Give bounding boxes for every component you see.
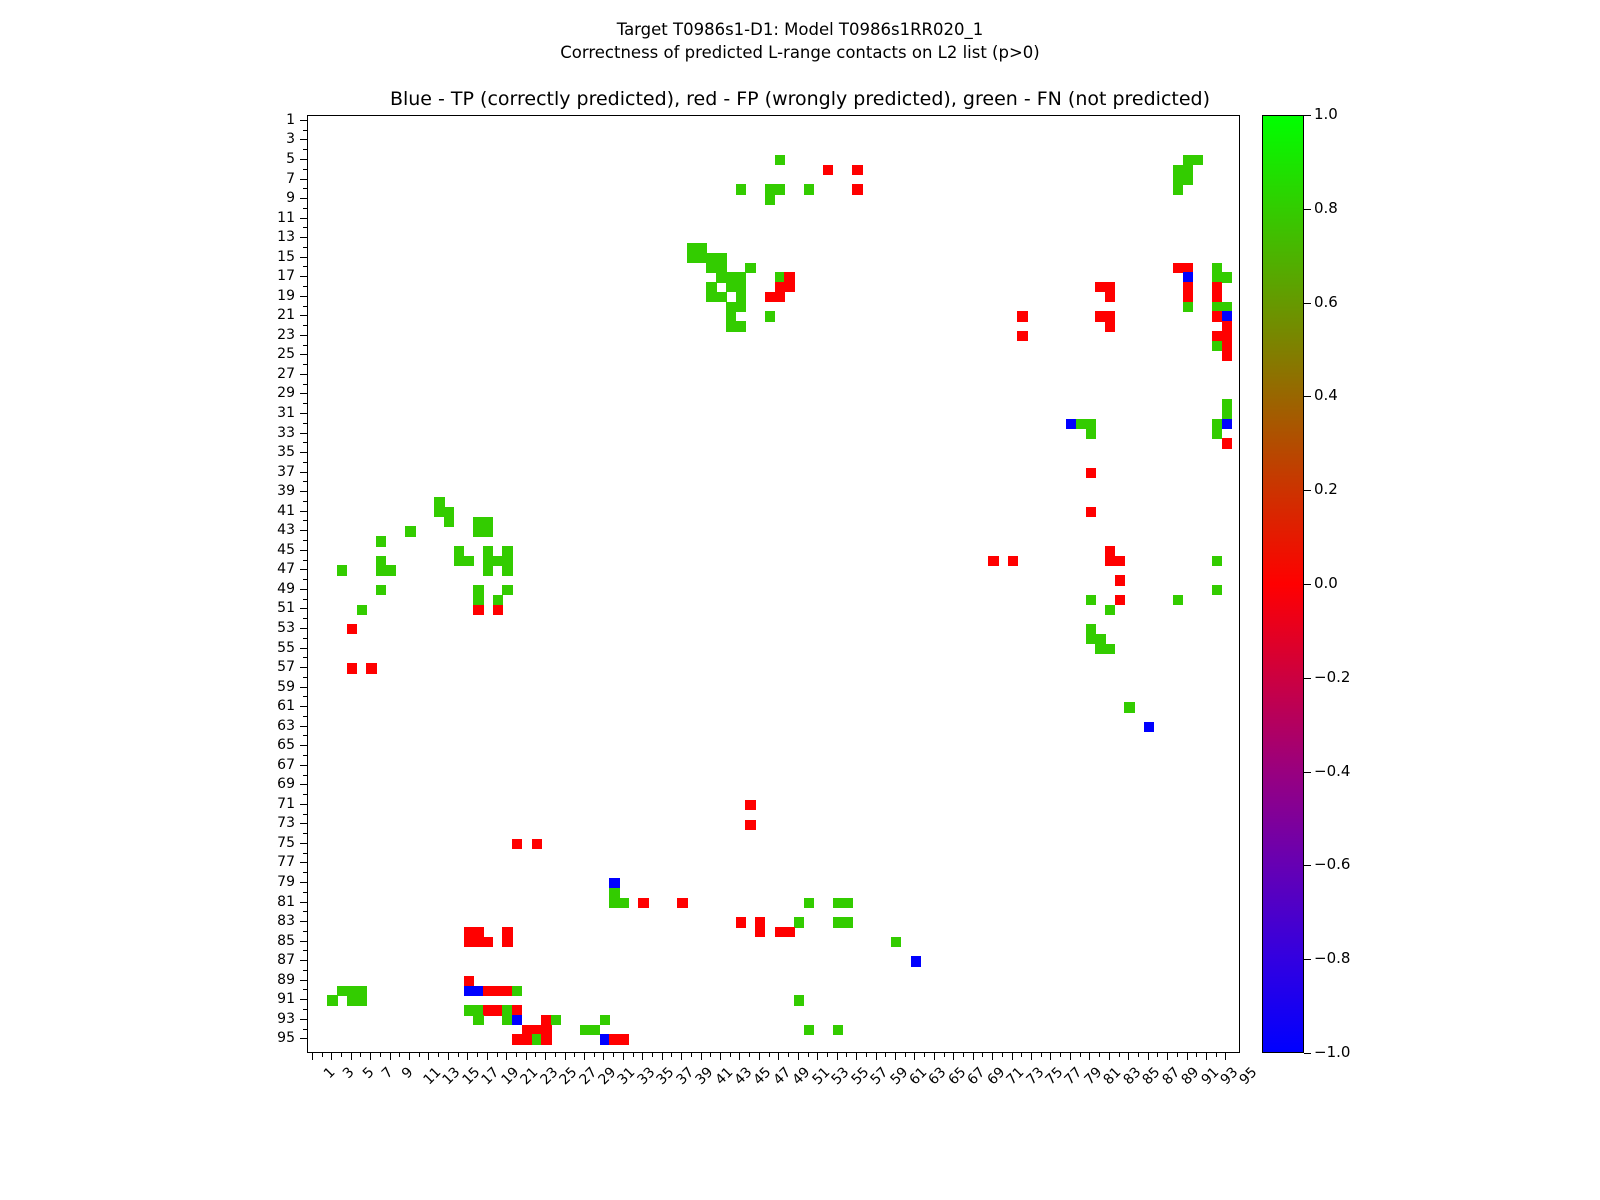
x-tick: [876, 1053, 877, 1060]
plot-right-minor-tick: [1235, 326, 1240, 327]
y-tick-label: 71: [247, 797, 295, 811]
figure-subtitle: Blue - TP (correctly predicted), red - F…: [0, 88, 1600, 110]
y-tick: [303, 657, 307, 658]
colorbar-tick-label: 0.4: [1314, 388, 1338, 403]
y-tick: [303, 306, 307, 307]
y-tick-label: 53: [247, 621, 295, 635]
y-tick: [303, 286, 307, 287]
contact-cell: [366, 663, 376, 673]
x-tick: [681, 1053, 682, 1060]
contact-cell: [1192, 155, 1202, 165]
y-tick: [303, 227, 307, 228]
contact-cell: [794, 995, 804, 1005]
x-tick: [662, 1053, 663, 1060]
y-tick: [300, 980, 307, 981]
y-tick: [300, 921, 307, 922]
contact-cell: [677, 898, 687, 908]
contact-cell: [493, 605, 503, 615]
y-tick: [303, 735, 307, 736]
contact-cell: [1105, 321, 1115, 331]
y-tick-label: 81: [247, 895, 295, 909]
y-tick: [300, 823, 307, 824]
x-tick: [992, 1053, 993, 1060]
y-tick: [300, 120, 307, 121]
y-tick: [300, 374, 307, 375]
contact-cell: [745, 800, 755, 810]
x-tick: [633, 1053, 634, 1057]
y-tick: [303, 462, 307, 463]
y-tick-label: 57: [247, 660, 295, 674]
y-tick-label: 77: [247, 855, 295, 869]
contact-cell: [1222, 419, 1232, 429]
y-tick-label: 49: [247, 582, 295, 596]
colorbar-tick-label: −0.6: [1314, 857, 1350, 872]
contact-cell: [736, 302, 746, 312]
plot-right-minor-tick: [1235, 303, 1240, 304]
x-tick: [360, 1053, 361, 1057]
y-tick: [300, 472, 307, 473]
contact-cell: [765, 194, 775, 204]
y-tick: [303, 794, 307, 795]
x-tick: [924, 1053, 925, 1057]
figure-title: Target T0986s1-D1: Model T0986s1RR020_1 …: [0, 18, 1600, 64]
contact-cell: [1212, 585, 1222, 595]
x-tick: [701, 1053, 702, 1060]
contact-cell: [512, 839, 522, 849]
contact-cell: [843, 898, 853, 908]
plot-right-minor-tick: [1235, 350, 1240, 351]
y-tick-label: 17: [247, 269, 295, 283]
contact-cell: [619, 1034, 629, 1044]
y-tick-label: 5: [247, 152, 295, 166]
x-tick: [428, 1053, 429, 1060]
y-tick-label: 21: [247, 308, 295, 322]
contact-cell: [541, 1034, 551, 1044]
y-tick: [303, 579, 307, 580]
y-tick-label: 7: [247, 172, 295, 186]
contact-cell: [473, 1015, 483, 1025]
x-tick: [477, 1053, 478, 1057]
y-tick: [303, 501, 307, 502]
y-tick: [303, 208, 307, 209]
y-tick-label: 65: [247, 738, 295, 752]
plot-right-minor-tick: [1235, 959, 1240, 960]
contact-cell: [1115, 556, 1125, 566]
plot-right-minor-tick: [1235, 561, 1240, 562]
x-tick: [574, 1053, 575, 1057]
y-tick: [300, 765, 307, 766]
y-tick: [300, 862, 307, 863]
y-tick-label: 47: [247, 562, 295, 576]
x-tick: [1012, 1053, 1013, 1060]
x-tick: [1099, 1053, 1100, 1057]
x-tick: [759, 1053, 760, 1060]
y-tick-label: 1: [247, 113, 295, 127]
y-tick-label: 33: [247, 426, 295, 440]
contact-cell: [502, 937, 512, 947]
y-tick: [303, 599, 307, 600]
title-line-2: Correctness of predicted L-range contact…: [0, 41, 1600, 64]
y-tick: [300, 257, 307, 258]
y-tick: [303, 638, 307, 639]
y-tick: [303, 403, 307, 404]
contact-cell: [1173, 184, 1183, 194]
x-tick: [603, 1053, 604, 1060]
contact-cell: [638, 898, 648, 908]
y-tick: [303, 970, 307, 971]
x-tick: [1031, 1053, 1032, 1060]
x-tick: [1050, 1053, 1051, 1060]
x-tick: [535, 1053, 536, 1057]
x-tick: [1041, 1053, 1042, 1057]
x-tick: [817, 1053, 818, 1060]
contact-cell: [852, 184, 862, 194]
contact-cell: [736, 917, 746, 927]
contact-cell: [483, 937, 493, 947]
contact-cell: [1105, 292, 1115, 302]
y-tick-label: 41: [247, 504, 295, 518]
colorbar-tick: [1304, 115, 1311, 116]
x-tick: [565, 1053, 566, 1060]
contact-cell: [765, 311, 775, 321]
x-tick: [914, 1053, 915, 1060]
y-tick-label: 15: [247, 250, 295, 264]
y-tick-label: 19: [247, 289, 295, 303]
plot-right-minor-tick: [1235, 819, 1240, 820]
y-tick: [303, 892, 307, 893]
colorbar-tick-label: −0.8: [1314, 951, 1350, 966]
x-tick: [487, 1053, 488, 1060]
x-tick: [390, 1053, 391, 1060]
title-line-1: Target T0986s1-D1: Model T0986s1RR020_1: [0, 18, 1600, 41]
x-tick: [953, 1053, 954, 1060]
colorbar-tick: [1304, 1053, 1311, 1054]
x-tick: [1138, 1053, 1139, 1057]
x-tick: [1060, 1053, 1061, 1057]
plot-right-minor-tick: [1235, 232, 1240, 233]
x-tick: [778, 1053, 779, 1060]
y-tick: [303, 989, 307, 990]
y-tick: [300, 589, 307, 590]
y-tick: [300, 198, 307, 199]
contact-cell: [376, 585, 386, 595]
plot-right-minor-tick: [1235, 279, 1240, 280]
y-tick: [300, 628, 307, 629]
contact-cell: [911, 956, 921, 966]
y-tick: [303, 481, 307, 482]
plot-right-minor-tick: [1235, 701, 1240, 702]
contact-cell: [532, 839, 542, 849]
contact-cell: [1115, 575, 1125, 585]
plot-right-minor-tick: [1235, 373, 1240, 374]
y-tick: [300, 139, 307, 140]
x-tick: [467, 1053, 468, 1060]
x-tick: [1216, 1053, 1217, 1057]
y-tick-label: 75: [247, 836, 295, 850]
y-tick: [300, 687, 307, 688]
plot-right-minor-tick: [1235, 443, 1240, 444]
contact-cell: [502, 585, 512, 595]
x-tick-label: 7: [380, 1065, 396, 1081]
y-tick-label: 95: [247, 1031, 295, 1045]
colorbar-tick-label: −0.2: [1314, 670, 1350, 685]
plot-right-minor-tick: [1235, 162, 1240, 163]
x-tick: [963, 1053, 964, 1057]
contact-cell: [386, 565, 396, 575]
y-tick-label: 85: [247, 934, 295, 948]
y-tick: [300, 784, 307, 785]
y-tick-label: 39: [247, 484, 295, 498]
y-tick: [300, 667, 307, 668]
contact-cell: [745, 820, 755, 830]
x-tick: [671, 1053, 672, 1057]
y-tick: [300, 608, 307, 609]
y-tick: [300, 452, 307, 453]
contact-cell: [1183, 302, 1193, 312]
y-tick: [300, 902, 307, 903]
x-tick: [982, 1053, 983, 1057]
y-tick: [300, 296, 307, 297]
x-tick: [642, 1053, 643, 1060]
y-tick: [300, 237, 307, 238]
contact-cell: [1105, 605, 1115, 615]
contact-cell: [473, 605, 483, 615]
contact-cell: [1222, 438, 1232, 448]
contact-cell: [1086, 468, 1096, 478]
contact-cell: [823, 165, 833, 175]
plot-right-minor-tick: [1235, 889, 1240, 890]
y-tick: [300, 218, 307, 219]
contact-cell: [755, 927, 765, 937]
x-tick: [1109, 1053, 1110, 1060]
y-tick: [303, 618, 307, 619]
plot-right-minor-tick: [1235, 795, 1240, 796]
plot-right-minor-tick: [1235, 865, 1240, 866]
contact-cell: [784, 282, 794, 292]
x-tick: [769, 1053, 770, 1057]
y-tick: [300, 276, 307, 277]
contact-cell: [357, 605, 367, 615]
x-tick: [710, 1053, 711, 1057]
y-tick-label: 79: [247, 875, 295, 889]
contact-cell: [775, 292, 785, 302]
contact-cell: [551, 1015, 561, 1025]
y-tick: [303, 696, 307, 697]
contact-map-plot[interactable]: [307, 115, 1240, 1053]
contact-cell: [736, 184, 746, 194]
contact-cell: [483, 526, 493, 536]
y-tick-label: 59: [247, 680, 295, 694]
plot-right-minor-tick: [1235, 842, 1240, 843]
contact-cell: [794, 917, 804, 927]
y-tick: [303, 364, 307, 365]
x-tick: [409, 1053, 410, 1060]
y-tick: [303, 755, 307, 756]
y-tick: [300, 843, 307, 844]
contact-cell: [852, 165, 862, 175]
x-tick: [1080, 1053, 1081, 1057]
contact-cell: [804, 184, 814, 194]
y-tick: [303, 325, 307, 326]
y-tick: [300, 960, 307, 961]
y-tick: [303, 149, 307, 150]
x-tick: [331, 1053, 332, 1060]
x-tick: [1206, 1053, 1207, 1060]
contact-cell: [347, 624, 357, 634]
y-tick-label: 69: [247, 777, 295, 791]
colorbar-tick: [1304, 772, 1311, 773]
x-tick: [1157, 1053, 1158, 1057]
y-tick-label: 63: [247, 719, 295, 733]
x-tick: [798, 1053, 799, 1060]
contact-cell: [804, 898, 814, 908]
y-tick: [303, 188, 307, 189]
y-tick: [303, 814, 307, 815]
contact-map-cells: [308, 116, 1239, 1052]
plot-right-minor-tick: [1235, 467, 1240, 468]
y-tick: [303, 423, 307, 424]
colorbar-tick: [1304, 584, 1311, 585]
x-tick: [720, 1053, 721, 1060]
x-tick: [458, 1053, 459, 1057]
colorbar-tick-label: 0.6: [1314, 295, 1338, 310]
y-tick-label: 73: [247, 816, 295, 830]
y-tick-label: 25: [247, 347, 295, 361]
plot-right-minor-tick: [1235, 537, 1240, 538]
x-tick: [1225, 1053, 1226, 1060]
y-tick-label: 43: [247, 523, 295, 537]
plot-right-minor-tick: [1235, 514, 1240, 515]
x-tick-label: 3: [341, 1065, 357, 1081]
figure-root: Target T0986s1-D1: Model T0986s1RR020_1 …: [0, 0, 1600, 1200]
x-tick: [837, 1053, 838, 1060]
y-tick-label: 83: [247, 914, 295, 928]
y-tick: [300, 1019, 307, 1020]
x-tick: [827, 1053, 828, 1057]
plot-right-minor-tick: [1235, 983, 1240, 984]
y-tick: [303, 1029, 307, 1030]
y-tick: [300, 159, 307, 160]
contact-cell: [1105, 644, 1115, 654]
x-tick: [1089, 1053, 1090, 1060]
plot-right-minor-tick: [1235, 725, 1240, 726]
y-tick: [303, 345, 307, 346]
y-tick: [303, 716, 307, 717]
x-tick: [419, 1053, 420, 1057]
y-tick: [300, 393, 307, 394]
x-tick: [934, 1053, 935, 1060]
contact-cell: [891, 937, 901, 947]
y-tick: [300, 315, 307, 316]
x-tick: [1070, 1053, 1071, 1060]
contact-cell: [357, 995, 367, 1005]
y-tick-label: 37: [247, 465, 295, 479]
y-tick-label: 35: [247, 445, 295, 459]
contact-cell: [502, 565, 512, 575]
x-tick: [691, 1053, 692, 1057]
contact-cell: [988, 556, 998, 566]
y-tick: [300, 999, 307, 1000]
x-tick: [545, 1053, 546, 1060]
contact-cell: [600, 1015, 610, 1025]
contact-cell: [775, 155, 785, 165]
y-tick: [300, 354, 307, 355]
colorbar-tick: [1304, 396, 1311, 397]
contact-cell: [512, 986, 522, 996]
x-tick: [497, 1053, 498, 1057]
x-tick: [380, 1053, 381, 1057]
x-tick: [856, 1053, 857, 1060]
y-tick: [300, 433, 307, 434]
x-tick: [1177, 1053, 1178, 1057]
colorbar-tick: [1304, 209, 1311, 210]
contact-cell: [1086, 507, 1096, 517]
x-tick: [1196, 1053, 1197, 1057]
contact-cell: [1173, 595, 1183, 605]
plot-right-minor-tick: [1235, 1006, 1240, 1007]
y-tick: [303, 872, 307, 873]
y-tick: [300, 941, 307, 942]
y-tick-label: 29: [247, 386, 295, 400]
y-tick: [300, 179, 307, 180]
contact-cell: [473, 526, 483, 536]
y-tick: [300, 648, 307, 649]
plot-right-minor-tick: [1235, 1053, 1240, 1054]
y-tick: [303, 520, 307, 521]
y-tick-label: 51: [247, 601, 295, 615]
colorbar-tick-label: −0.4: [1314, 764, 1350, 779]
y-tick: [303, 911, 307, 912]
x-tick: [788, 1053, 789, 1057]
plot-right-minor-tick: [1235, 396, 1240, 397]
x-tick: [438, 1053, 439, 1057]
contact-cell: [784, 927, 794, 937]
contact-cell: [483, 565, 493, 575]
y-tick: [300, 491, 307, 492]
y-tick: [303, 775, 307, 776]
x-tick: [584, 1053, 585, 1060]
y-tick: [303, 853, 307, 854]
y-tick-label: 11: [247, 211, 295, 225]
contact-cell: [327, 995, 337, 1005]
contact-cell: [736, 321, 746, 331]
y-tick: [303, 950, 307, 951]
y-tick: [303, 677, 307, 678]
y-tick: [300, 804, 307, 805]
y-tick-label: 93: [247, 1012, 295, 1026]
contact-cell: [376, 536, 386, 546]
plot-right-minor-tick: [1235, 256, 1240, 257]
contact-cell: [464, 556, 474, 566]
plot-right-minor-tick: [1235, 631, 1240, 632]
y-tick: [303, 266, 307, 267]
contact-cell: [1124, 702, 1134, 712]
colorbar-tick: [1304, 865, 1311, 866]
y-tick: [303, 540, 307, 541]
contact-cell: [444, 517, 454, 527]
x-tick: [1167, 1053, 1168, 1060]
y-tick: [300, 335, 307, 336]
y-tick: [300, 530, 307, 531]
plot-right-minor-tick: [1235, 209, 1240, 210]
x-tick: [846, 1053, 847, 1057]
plot-right-minor-tick: [1235, 1030, 1240, 1031]
x-tick: [506, 1053, 507, 1060]
x-tick-label: 5: [360, 1065, 376, 1081]
colorbar-tick: [1304, 959, 1311, 960]
x-tick: [1148, 1053, 1149, 1060]
y-tick-label: 31: [247, 406, 295, 420]
